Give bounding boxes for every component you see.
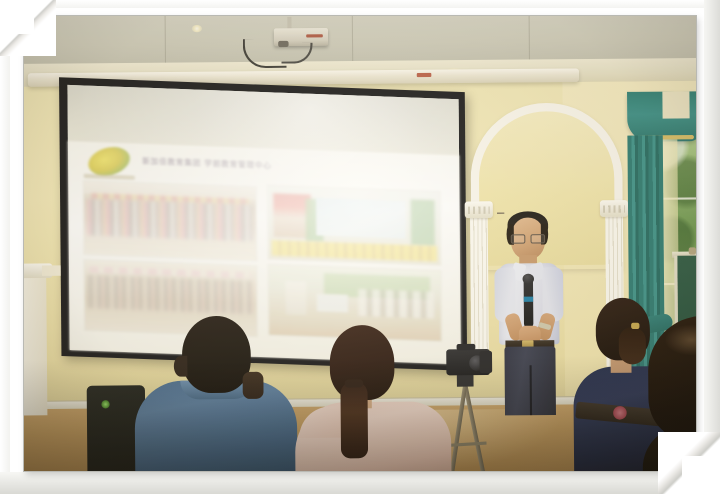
audience-hair-bun (619, 327, 646, 365)
hair-clip-icon (631, 323, 639, 329)
tripod-head (457, 374, 474, 387)
microphone-band (524, 297, 533, 302)
ceiling-sensor-icon (192, 25, 202, 32)
photo-frame: 新加佳教育集团 学前教育管理中心 (0, 0, 720, 494)
frame-edge-top (0, 0, 720, 8)
column-capital-right (600, 200, 628, 217)
glasses-bridge (497, 213, 504, 214)
frame-edge-bottom (0, 472, 720, 494)
wall-ledge (42, 265, 61, 276)
screen-brand-mark (417, 73, 432, 77)
audience-member-ponytail (294, 324, 451, 471)
frame-edge-right (704, 0, 720, 494)
power-led-icon (101, 400, 109, 408)
left-wall-pillar (24, 270, 47, 416)
glasses-icon (511, 234, 545, 242)
audience-ponytail (340, 381, 368, 458)
photograph-content: 新加佳教育集团 学前教育管理中心 (24, 16, 696, 471)
curtain-valance-inset (662, 91, 689, 118)
frame-edge-left (0, 0, 10, 494)
audience-hand (243, 372, 264, 399)
audience-head (182, 316, 251, 394)
frame-corner-top-left-fill (0, 0, 34, 34)
microphone (524, 278, 534, 328)
camera-grip (480, 351, 493, 373)
camera-flash-icon (457, 344, 476, 350)
audience-member-denim-shirt (134, 315, 298, 471)
presenter-trouser-seam (530, 365, 533, 415)
tripod-leg (463, 384, 486, 471)
tripod-leg (449, 384, 467, 471)
hair-tie-icon (345, 379, 364, 387)
audience-ear (174, 356, 188, 377)
photograph: 新加佳教育集团 学前教育管理中心 (24, 16, 696, 471)
projector-brand-mark (306, 34, 323, 37)
frame-corner-bottom-right-fill (682, 456, 720, 494)
chalkboard-hook-icon (689, 247, 696, 254)
microphone-head-icon (523, 274, 535, 284)
